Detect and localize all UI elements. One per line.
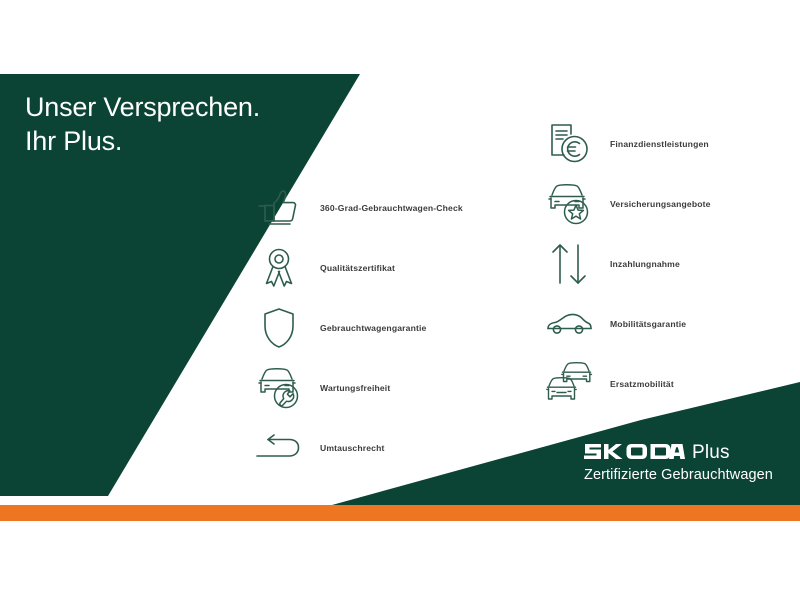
benefits-left-column: 360-Grad-Gebrauchtwagen-Check Qualitätsz… [252,182,463,482]
thumbs-up-icon [252,185,306,231]
brand-logo-wordmark: Plus [584,440,773,462]
return-arrow-icon [252,425,306,471]
benefit-label: Qualitätszertifikat [320,263,395,273]
benefit-label: Ersatzmobilität [610,379,674,389]
benefit-label: Mobilitätsgarantie [610,319,686,329]
benefit-item-finanzdienstleistungen[interactable]: Finanzdienstleistungen [542,118,711,169]
benefit-item-360-grad-check[interactable]: 360-Grad-Gebrauchtwagen-Check [252,182,463,233]
promo-banner: Unser Versprechen. Ihr Plus. 360-Grad-Ge… [0,0,800,600]
benefit-label: Inzahlungnahme [610,259,680,269]
car-wrench-icon [252,365,306,411]
benefit-label: Gebrauchtwagengarantie [320,323,426,333]
skoda-wordmark-icon [584,441,685,462]
benefit-item-inzahlungnahme[interactable]: Inzahlungnahme [542,238,711,289]
brand-logo-tagline: Zertifizierte Gebrauchtwagen [584,467,773,483]
two-cars-icon [542,361,596,407]
benefit-label: 360-Grad-Gebrauchtwagen-Check [320,203,463,213]
benefit-item-ersatzmobilitaet[interactable]: Ersatzmobilität [542,358,711,409]
benefit-item-versicherungsangebote[interactable]: Versicherungsangebote [542,178,711,229]
brand-logo: Plus Zertifizierte Gebrauchtwagen [584,440,773,483]
up-down-arrows-icon [542,241,596,287]
brand-logo-suffix: Plus [692,443,730,462]
document-euro-icon [542,121,596,167]
benefit-item-umtauschrecht[interactable]: Umtauschrecht [252,422,463,473]
benefit-label: Wartungsfreiheit [320,383,390,393]
benefit-item-gebrauchtwagengarantie[interactable]: Gebrauchtwagengarantie [252,302,463,353]
page-title: Unser Versprechen. Ihr Plus. [25,90,260,158]
shield-icon [252,305,306,351]
benefit-item-mobilitaetsgarantie[interactable]: Mobilitätsgarantie [542,298,711,349]
orange-accent-bar [0,505,800,521]
car-star-icon [542,181,596,227]
benefit-label: Versicherungsangebote [610,199,711,209]
benefit-item-wartungsfreiheit[interactable]: Wartungsfreiheit [252,362,463,413]
award-rosette-icon [252,245,306,291]
benefit-label: Finanzdienstleistungen [610,139,709,149]
car-side-icon [542,301,596,347]
benefits-right-column: Finanzdienstleistungen Versicherungsan [542,118,711,418]
benefit-label: Umtauschrecht [320,443,385,453]
benefit-item-qualitaetszertifikat[interactable]: Qualitätszertifikat [252,242,463,293]
